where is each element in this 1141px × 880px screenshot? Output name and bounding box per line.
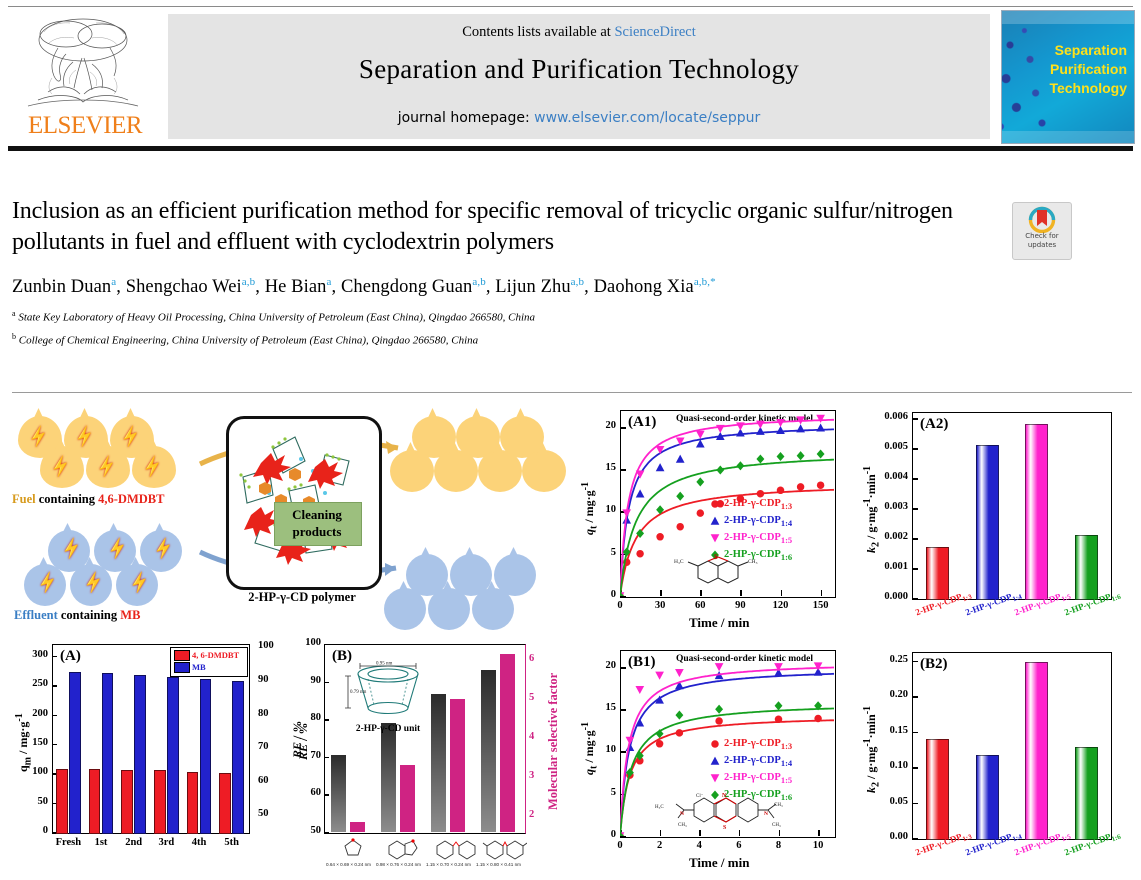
bar xyxy=(1025,662,1048,840)
svg-text:0.95 nm: 0.95 nm xyxy=(376,662,393,667)
y-tick xyxy=(324,644,329,645)
clean-fuel-droplet xyxy=(434,450,478,492)
chart-panel-A2: (A2)0.0000.0010.0020.0030.0040.0050.006k… xyxy=(860,402,1138,638)
pollutant-icon: ⚡ xyxy=(140,455,165,478)
journal-cover-image: Separation Purification Technology xyxy=(1001,10,1135,144)
bar xyxy=(1025,424,1048,600)
y-tick-label: 250 xyxy=(20,678,48,689)
y-tick-label: 90 xyxy=(296,675,321,686)
y-axis-title: RE / % xyxy=(296,723,311,760)
effluent-caption-analyte: MB xyxy=(120,608,140,622)
cover-bottom-band xyxy=(1002,131,1134,143)
y-tick-label: 15 xyxy=(586,702,616,713)
pollutant-icon: ⚡ xyxy=(72,425,97,448)
molecule-glyph-icon xyxy=(481,836,527,862)
x-tick-label: 5th xyxy=(210,837,254,848)
y-tick-label: 5 xyxy=(586,787,616,798)
svg-text:Cl⁻: Cl⁻ xyxy=(696,794,704,799)
y-tick xyxy=(912,838,918,840)
y-tick xyxy=(912,767,918,769)
svg-text:S: S xyxy=(714,553,718,561)
y-tick xyxy=(912,696,918,698)
effluent-droplet: ⚡ xyxy=(70,564,112,606)
bar xyxy=(926,739,949,840)
y-tick xyxy=(52,685,57,686)
cleaning-products-label: Cleaning products xyxy=(274,506,360,540)
y2-tick-label: 70 xyxy=(258,741,284,752)
legend-marker xyxy=(709,755,721,767)
y2-tick-label: 6 xyxy=(529,653,543,664)
y-tick xyxy=(324,719,329,720)
elsevier-wordmark: ELSEVIER xyxy=(12,112,158,140)
bar xyxy=(69,672,81,834)
author-affil-marker: a,b xyxy=(242,276,255,288)
chart-panel-B1: (B1)Quasi-second-order kinetic model0510… xyxy=(576,638,860,878)
y-tick-label: 50 xyxy=(296,825,321,836)
y-tick xyxy=(620,511,626,513)
y2-tick-label: 50 xyxy=(258,808,284,819)
y-tick-label: 100 xyxy=(296,637,321,648)
journal-masthead: ELSEVIER Contents lists available at Sci… xyxy=(0,0,1141,152)
y2-tick-label: 80 xyxy=(258,708,284,719)
cd-unit-inset-graphic: 0.95 nm 0.79 nm xyxy=(340,660,436,722)
y-tick xyxy=(324,832,329,833)
y2-tick-label: 60 xyxy=(258,775,284,786)
panel-tag: (A2) xyxy=(920,416,948,433)
y-tick xyxy=(620,554,626,556)
molecule-4-6-dmdbt-icon: S H₃C CH₃ xyxy=(672,552,764,604)
y-tick-label: 20 xyxy=(586,420,616,431)
y-tick-label: 0.006 xyxy=(870,411,908,422)
svg-text:0.79 nm: 0.79 nm xyxy=(350,690,367,695)
y-tick-label: 0 xyxy=(586,589,616,600)
author-name: Lijun Zhu xyxy=(495,277,570,297)
y2-tick-label: 90 xyxy=(258,674,284,685)
affiliation: b College of Chemical Engineering, China… xyxy=(12,329,1132,349)
panel-tag: (A) xyxy=(60,648,81,665)
bar xyxy=(154,770,166,834)
panel-tag: (B2) xyxy=(920,656,948,673)
y-tick xyxy=(324,757,329,758)
article-header: Inclusion as an efficient purification m… xyxy=(12,196,1132,348)
author-name: Shengchao Wei xyxy=(126,277,242,297)
molecule-dimension-label: 1.15 × 0.70 × 0.24 nm xyxy=(426,862,471,867)
pollutant-icon: ⚡ xyxy=(59,537,84,560)
y-axis-title: k2 / g·mg-1·min-1 xyxy=(862,706,881,793)
fuel-caption-word: Fuel xyxy=(12,492,36,506)
fuel-droplet: ⚡ xyxy=(132,446,176,488)
affiliation: a State Key Laboratory of Heavy Oil Proc… xyxy=(12,306,1132,326)
y-tick-label: 0.000 xyxy=(870,591,908,602)
bar xyxy=(500,654,515,832)
bar xyxy=(926,547,949,600)
legend-label: 2-HP-γ-CDP1:5 xyxy=(724,532,792,545)
cover-title-line-1: Separation xyxy=(1031,41,1127,60)
bar xyxy=(121,770,133,834)
legend-label: 2-HP-γ-CDP1:3 xyxy=(724,738,792,751)
bar xyxy=(400,765,415,832)
clean-effluent-droplet xyxy=(428,588,470,630)
x-tick-label: 0 xyxy=(602,840,638,851)
bar xyxy=(1075,535,1098,600)
author-name: Daohong Xia xyxy=(594,277,694,297)
svg-text:CH₃: CH₃ xyxy=(748,559,758,565)
clean-effluent-droplet xyxy=(384,588,426,630)
y-tick-label: 50 xyxy=(20,796,48,807)
legend-label: MB xyxy=(192,662,206,672)
elsevier-logo: ELSEVIER xyxy=(10,14,160,140)
y2-tick-label: 5 xyxy=(529,692,543,703)
x-tick xyxy=(660,590,662,596)
legend-label: 2-HP-γ-CDP1:5 xyxy=(724,772,792,785)
y-tick xyxy=(620,427,626,429)
legend-label: 2-HP-γ-CDP1:4 xyxy=(724,755,792,768)
effluent-caption-word: Effluent xyxy=(14,608,58,622)
model-annotation: Quasi-second-order kinetic model xyxy=(676,414,813,424)
x-tick xyxy=(781,590,783,596)
y-tick-label: 15 xyxy=(586,462,616,473)
legend-label: 2-HP-γ-CDP1:4 xyxy=(724,515,792,528)
svg-text:N: N xyxy=(680,811,684,817)
clean-fuel-droplet xyxy=(478,450,522,492)
homepage-line: journal homepage: www.elsevier.com/locat… xyxy=(168,110,990,126)
fuel-droplet: ⚡ xyxy=(40,446,84,488)
fuel-caption: Fuel containing 4,6-DMDBT xyxy=(12,492,164,507)
crossmark-badge[interactable]: Check for updates xyxy=(1012,202,1072,260)
bar xyxy=(1075,747,1098,840)
x-tick-label: 150 xyxy=(803,600,839,611)
bar xyxy=(89,769,101,834)
process-scheme: ⚡ ⚡ ⚡ ⚡ ⚡ ⚡ Fuel containing 4,6-DMDBT ⚡ … xyxy=(4,402,576,630)
molecule-glyph-icon xyxy=(381,836,427,862)
y-tick-label: 0 xyxy=(20,825,48,836)
y-axis-title: qm / mg·g-1 xyxy=(14,713,33,772)
effluent-caption-mid: containing xyxy=(58,608,121,622)
pollutant-icon: ⚡ xyxy=(151,537,176,560)
svg-text:CH₃: CH₃ xyxy=(678,823,687,828)
svg-text:S: S xyxy=(723,825,727,831)
legend-swatch xyxy=(174,650,190,661)
effluent-caption: Effluent containing MB xyxy=(14,608,140,623)
bar xyxy=(134,675,146,834)
author-affil-marker: a,b,* xyxy=(694,276,716,288)
affiliation-list: a State Key Laboratory of Heavy Oil Proc… xyxy=(12,306,1132,348)
y-axis-title: k2 / g·mg-1·min-1 xyxy=(862,466,881,553)
y-tick xyxy=(912,538,918,540)
x-tick xyxy=(818,830,820,836)
author: He Biana xyxy=(265,277,332,297)
y2-axis-title: Molecular selective factor xyxy=(546,673,561,810)
y-tick xyxy=(912,418,918,420)
author-name: Chengdong Guan xyxy=(341,277,472,297)
y2-tick-label: 3 xyxy=(529,770,543,781)
y-tick-label: 0.05 xyxy=(870,796,908,807)
clean-line-2: products xyxy=(274,523,360,540)
contents-text: Contents lists available at xyxy=(462,24,614,40)
bar xyxy=(350,822,365,832)
cd-unit-inset-label: 2-HP-γ-CD unit xyxy=(342,724,434,734)
legend-label: 2-HP-γ-CDP1:3 xyxy=(724,498,792,511)
y-tick-label: 5 xyxy=(586,547,616,558)
y-tick xyxy=(620,794,626,796)
page-title: Inclusion as an efficient purification m… xyxy=(12,196,977,258)
x-tick xyxy=(620,590,622,596)
svg-text:CH₃: CH₃ xyxy=(774,803,783,808)
legend-label: 4, 6-DMDBT xyxy=(192,650,239,660)
y-tick xyxy=(912,478,918,480)
abstract-rule xyxy=(12,392,1132,393)
panel-tag: (A1) xyxy=(628,414,656,431)
model-annotation: Quasi-second-order kinetic model xyxy=(676,654,813,664)
y-tick xyxy=(912,803,918,805)
y-tick xyxy=(912,568,918,570)
crossmark-label: Check for updates xyxy=(1013,232,1071,250)
effluent-droplet: ⚡ xyxy=(24,564,66,606)
pollutant-icon: ⚡ xyxy=(105,537,130,560)
sciencedirect-link[interactable]: ScienceDirect xyxy=(614,24,695,40)
chart-panel-A1: (A1)Quasi-second-order kinetic model0510… xyxy=(576,402,860,638)
cover-title-line-2: Purification xyxy=(1031,60,1127,79)
x-axis-title: Time / min xyxy=(689,615,749,631)
y-tick-label: 60 xyxy=(296,787,321,798)
y-tick-label: 300 xyxy=(20,649,48,660)
molecule-glyph-icon xyxy=(331,836,377,862)
x-tick xyxy=(821,590,823,596)
y-tick xyxy=(324,682,329,683)
top-rule xyxy=(8,6,1133,7)
bar xyxy=(450,699,465,832)
author-affil-marker: a,b xyxy=(571,276,584,288)
bar xyxy=(56,769,68,834)
y-tick xyxy=(620,667,626,669)
panel-tag: (B1) xyxy=(628,654,656,671)
bar xyxy=(219,773,231,834)
y-tick-label: 80 xyxy=(296,712,321,723)
clean-fuel-droplet xyxy=(522,450,566,492)
author: Shengchao Weia,b xyxy=(126,277,256,297)
cyclodextrin-network-graphic xyxy=(229,419,373,581)
y-tick-label: 0 xyxy=(586,829,616,840)
y-tick xyxy=(620,596,626,598)
pollutant-icon: ⚡ xyxy=(127,571,152,594)
bar xyxy=(976,445,999,600)
chart-panel-B2: (B2)0.000.050.100.150.200.25k2 / g·mg-1·… xyxy=(860,638,1138,878)
bar xyxy=(187,772,199,834)
effluent-droplet: ⚡ xyxy=(116,564,158,606)
y-tick-label: 0.00 xyxy=(870,831,908,842)
svg-text:CH₃: CH₃ xyxy=(772,823,781,828)
affil-marker: b xyxy=(12,332,16,341)
molecule-dimension-label: 0.98 × 0.76 × 0.24 nm xyxy=(376,862,421,867)
y-tick xyxy=(620,709,626,711)
svg-text:N: N xyxy=(722,793,727,799)
pollutant-icon: ⚡ xyxy=(48,455,73,478)
x-tick-label: 120 xyxy=(763,600,799,611)
y-tick xyxy=(912,598,918,600)
author: Lijun Zhua,b xyxy=(495,277,584,297)
author-list: Zunbin Duana, Shengchao Weia,b, He Biana… xyxy=(12,276,1132,298)
pollutant-icon: ⚡ xyxy=(118,425,143,448)
y2-tick-label: 2 xyxy=(529,809,543,820)
y-tick xyxy=(324,794,329,795)
molecule-methylene-blue-icon: N S Cl⁻ H₃C CH₃ CH₃ CH₃ N N xyxy=(654,786,804,848)
y-axis-title: qt / mg·g-1 xyxy=(580,722,599,775)
y-axis-title: qt / mg·g-1 xyxy=(580,482,599,535)
molecule-dimension-label: 1.15 × 0.80 × 0.41 nm xyxy=(476,862,521,867)
legend-marker xyxy=(709,515,721,527)
author: Zunbin Duana xyxy=(12,277,116,297)
y2-tick-label: 4 xyxy=(529,731,543,742)
y-tick xyxy=(52,715,57,716)
y-tick-label: 0.001 xyxy=(870,561,908,572)
author-name: Zunbin Duan xyxy=(12,277,111,297)
bar xyxy=(481,670,496,832)
bar xyxy=(976,755,999,840)
svg-text:H₃C: H₃C xyxy=(655,805,664,810)
chart-panel-A: (A)0501001502002503005060708090100qm / m… xyxy=(4,630,292,878)
x-tick xyxy=(620,830,622,836)
bar xyxy=(102,673,114,834)
cover-title: Separation Purification Technology xyxy=(1031,41,1127,98)
clean-line-1: Cleaning xyxy=(274,506,360,523)
bottom-rule xyxy=(8,146,1133,151)
y-tick xyxy=(912,448,918,450)
cover-title-line-3: Technology xyxy=(1031,79,1127,98)
y-tick-label: 0.005 xyxy=(870,441,908,452)
x-tick-label: 0 xyxy=(602,600,638,611)
author: Chengdong Guana,b xyxy=(341,277,486,297)
y-tick-label: 0.20 xyxy=(870,689,908,700)
y-tick xyxy=(912,661,918,663)
y-tick xyxy=(620,469,626,471)
molecule-dimension-label: 0.64 × 0.69 × 0.24 nm xyxy=(326,862,371,867)
clean-effluent-droplet xyxy=(472,588,514,630)
bar xyxy=(232,681,244,834)
fuel-caption-analyte: 4,6-DMDBT xyxy=(98,492,164,506)
clean-fuel-droplet xyxy=(390,450,434,492)
journal-banner: Contents lists available at ScienceDirec… xyxy=(168,14,990,139)
homepage-link[interactable]: www.elsevier.com/locate/seppur xyxy=(534,110,760,126)
x-axis-title: Time / min xyxy=(689,855,749,871)
y-tick xyxy=(620,751,626,753)
author-affil-marker: a,b xyxy=(472,276,485,288)
legend-marker xyxy=(709,498,721,510)
affil-marker: a xyxy=(12,309,16,318)
legend-marker xyxy=(709,772,721,784)
y-tick xyxy=(912,732,918,734)
pollutant-icon: ⚡ xyxy=(35,571,60,594)
journal-title: Separation and Purification Technology xyxy=(168,54,990,85)
pollutant-icon: ⚡ xyxy=(26,425,51,448)
x-tick-label: 10 xyxy=(800,840,836,851)
y-tick xyxy=(52,744,57,745)
fuel-droplet: ⚡ xyxy=(86,446,130,488)
crossmark-icon xyxy=(1013,203,1071,233)
bar xyxy=(331,755,346,832)
elsevier-tree-icon xyxy=(18,14,148,114)
contents-line: Contents lists available at ScienceDirec… xyxy=(168,24,990,41)
polymer-caption: 2-HP-γ-CD polymer xyxy=(222,590,382,605)
svg-text:H₃C: H₃C xyxy=(674,559,684,565)
y-tick xyxy=(620,836,626,838)
bar xyxy=(200,679,212,834)
molecule-glyph-icon xyxy=(431,836,477,862)
bar xyxy=(167,677,179,834)
fuel-caption-mid: containing xyxy=(36,492,99,506)
author-name: He Bian xyxy=(265,277,327,297)
legend-swatch xyxy=(174,662,190,673)
y-tick-label: 0.25 xyxy=(870,654,908,665)
homepage-text: journal homepage: xyxy=(398,110,534,126)
legend-marker xyxy=(709,738,721,750)
y-tick-label: 20 xyxy=(586,660,616,671)
pollutant-icon: ⚡ xyxy=(94,455,119,478)
y-tick xyxy=(912,508,918,510)
graphical-abstract: ⚡ ⚡ ⚡ ⚡ ⚡ ⚡ Fuel containing 4,6-DMDBT ⚡ … xyxy=(0,398,1141,880)
y2-tick-label: 100 xyxy=(258,640,284,651)
y-tick xyxy=(52,656,57,657)
chart-panel-B: (B)506070809010023456RE / %Molecular sel… xyxy=(292,630,580,878)
legend-marker xyxy=(709,532,721,544)
bar xyxy=(381,723,396,832)
author: Daohong Xiaa,b,* xyxy=(594,277,716,297)
svg-text:N: N xyxy=(764,811,768,817)
pollutant-icon: ⚡ xyxy=(81,571,106,594)
